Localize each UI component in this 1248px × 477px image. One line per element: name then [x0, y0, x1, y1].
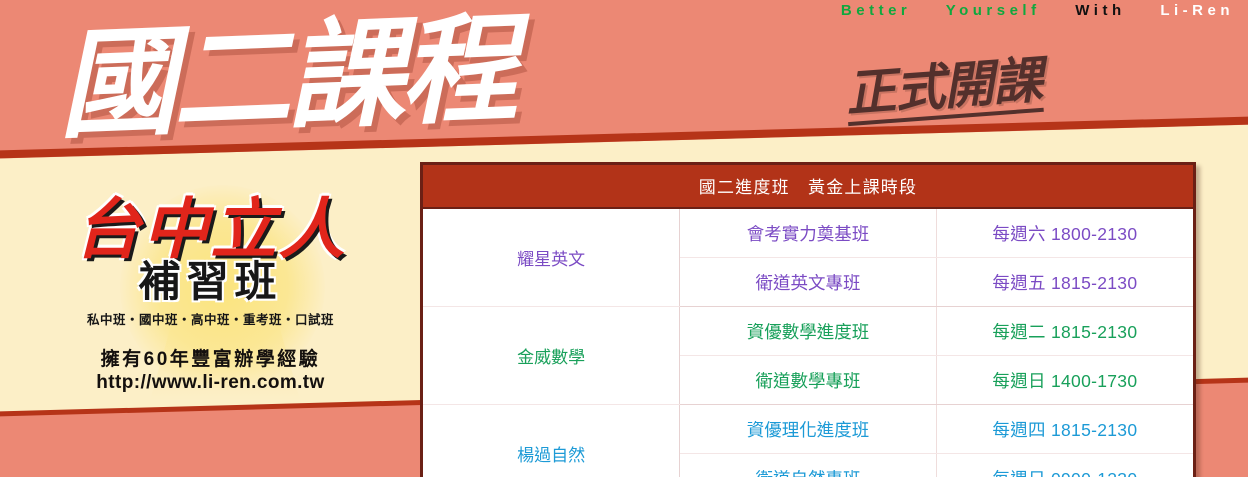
course-time-cell: 每週五 1815-2130	[936, 258, 1193, 307]
course-time-cell: 每週日 0900-1230	[936, 454, 1193, 477]
course-time-cell: 每週四 1815-2130	[936, 405, 1193, 454]
schedule-table-header: 國二進度班 黃金上課時段	[423, 165, 1193, 208]
logo-class-types: 私中班・國中班・高中班・重考班・口試班	[38, 309, 383, 328]
course-name-cell: 會考實力奠基班	[680, 208, 937, 258]
course-name-cell: 資優理化進度班	[680, 405, 937, 454]
promotional-banner: Better Yourself With Li-Ren 國二課程 正式開課 台中…	[0, 0, 1248, 477]
course-time-cell: 每週六 1800-2130	[936, 208, 1193, 258]
tagline-part-3: With	[1075, 2, 1125, 19]
table-row: 耀星英文會考實力奠基班每週六 1800-2130	[423, 208, 1193, 258]
table-row: 金威數學資優數學進度班每週二 1815-2130	[423, 307, 1193, 356]
subject-cell: 金威數學	[423, 307, 680, 405]
page-title: 國二課程	[56, 9, 516, 144]
course-name-cell: 衛道自然專班	[680, 454, 937, 477]
table-row: 楊過自然資優理化進度班每週四 1815-2130	[423, 405, 1193, 454]
schedule-table-body: 耀星英文會考實力奠基班每週六 1800-2130衛道英文專班每週五 1815-2…	[423, 208, 1193, 477]
subject-cell: 耀星英文	[423, 208, 680, 307]
brand-tagline: Better Yourself With Li-Ren	[841, 2, 1234, 19]
schedule-table: 國二進度班 黃金上課時段 耀星英文會考實力奠基班每週六 1800-2130衛道英…	[423, 165, 1193, 477]
course-time-cell: 每週二 1815-2130	[936, 307, 1193, 356]
logo-experience: 擁有60年豐富辦學經驗	[38, 344, 383, 371]
course-name-cell: 衛道英文專班	[680, 258, 937, 307]
course-name-cell: 資優數學進度班	[680, 307, 937, 356]
tagline-part-4: Li-Ren	[1160, 2, 1234, 19]
logo-website-url: http://www.li-ren.com.tw	[38, 372, 383, 394]
course-time-cell: 每週日 1400-1730	[936, 356, 1193, 405]
tagline-part-2: Yourself	[946, 2, 1041, 19]
logo-brand-name: 台中立人	[38, 196, 383, 263]
course-name-cell: 衛道數學專班	[680, 356, 937, 405]
subject-cell: 楊過自然	[423, 405, 680, 477]
schedule-table-container: 國二進度班 黃金上課時段 耀星英文會考實力奠基班每週六 1800-2130衛道英…	[420, 162, 1196, 477]
tagline-part-1: Better	[841, 2, 911, 19]
school-logo: 台中立人 補習班 私中班・國中班・高中班・重考班・口試班 擁有60年豐富辦學經驗…	[38, 196, 383, 394]
